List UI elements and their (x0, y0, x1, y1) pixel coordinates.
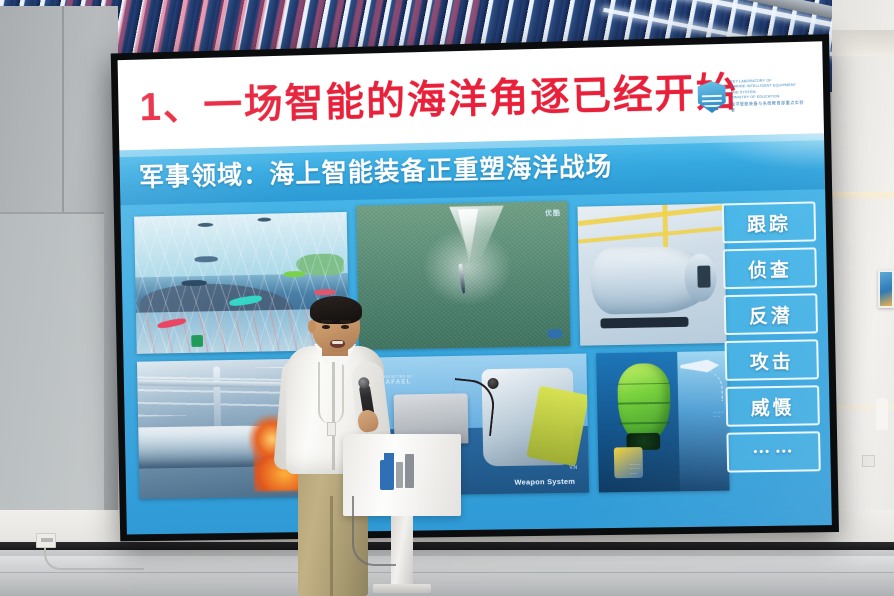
auv-cradle (600, 317, 688, 328)
surface-ship-icon (194, 256, 217, 262)
presentation-scene: 1、一场智能的海洋角逐已经开始 KEY LABORATORY OF MARINE… (0, 0, 894, 596)
slide-body: 优酷 (120, 189, 831, 534)
action-button-attack[interactable]: 攻击 (725, 339, 819, 381)
band-highlight (625, 133, 825, 193)
power-cable (44, 548, 144, 570)
action-button-more[interactable]: ••• ••• (726, 431, 820, 472)
action-button-recon[interactable]: 侦查 (723, 247, 817, 289)
presenter-eyebrow (340, 320, 351, 323)
presenter-mouth (330, 340, 345, 348)
slide-display: 1、一场智能的海洋角逐已经开始 KEY LABORATORY OF MARINE… (118, 41, 832, 534)
trouser-seam (330, 496, 333, 596)
ceiling-soffit (832, 30, 894, 56)
tile-large-auv-hangar[interactable] (577, 203, 726, 345)
slide-title: 1、一场智能的海洋角逐已经开始 (139, 60, 738, 133)
tile-corner-text: V.N (569, 465, 577, 471)
action-button-deterrence[interactable]: 威慑 (725, 385, 819, 426)
presenter-eye (341, 325, 349, 329)
gooseneck-microphone (449, 378, 496, 436)
institute-logo (380, 454, 424, 496)
action-button-anti-sub[interactable]: 反潜 (724, 293, 818, 335)
presenter-hair (310, 296, 362, 324)
tile-underwater-mine-airdrop[interactable]: — — —— — —— — — — —— — (596, 351, 729, 492)
youku-watermark: 优酷 (545, 208, 561, 218)
diagram-annotation: — — —— — (713, 410, 724, 419)
action-button-track[interactable]: 跟踪 (722, 201, 816, 243)
name-badge (327, 422, 336, 436)
lectern-base (373, 584, 431, 593)
cargo-box-icon (191, 335, 203, 347)
lanyard (318, 362, 344, 424)
wall-seam (62, 6, 64, 221)
framed-picture (878, 270, 894, 308)
cove-light-glow (832, 192, 894, 201)
submarine-icon (182, 280, 207, 286)
logo-gray-shape (405, 454, 414, 488)
wall-power-outlet (36, 533, 56, 548)
wall-power-outlet (862, 455, 875, 467)
lectern-cable (352, 496, 396, 566)
video-logo-badge (547, 329, 562, 338)
presenter-eyebrow (321, 320, 332, 323)
lab-logo-line-cn: 海洋智能装备与系统教育部重点实验室 (731, 100, 806, 114)
logo-blue-shape (380, 460, 394, 490)
lab-logo-text: KEY LABORATORY OF MARINE INTELLIGENT EQU… (730, 77, 805, 113)
auv-icon-green (284, 271, 305, 277)
presenter-ear (308, 320, 316, 333)
capability-button-column: 跟踪 侦查 反潜 攻击 威慑 ••• ••• (722, 201, 821, 478)
weapon-system-caption: Weapon System (514, 477, 575, 487)
wall-object (876, 398, 888, 430)
lab-logo: KEY LABORATORY OF MARINE INTELLIGENT EQU… (697, 72, 805, 121)
slide-subtitle: 军事领域：海上智能装备正重塑海洋战场 (139, 146, 613, 194)
wave-shield-icon (698, 81, 726, 114)
logo-gray-shape (396, 462, 403, 488)
green-mine-body (617, 363, 671, 439)
led-video-wall[interactable]: 1、一场智能的海洋角逐已经开始 KEY LABORATORY OF MARINE… (111, 34, 839, 541)
auv-sensor-port (697, 265, 711, 288)
diagram-annotation: — — —— — —— — (630, 462, 641, 476)
presenter-eye (322, 325, 330, 329)
